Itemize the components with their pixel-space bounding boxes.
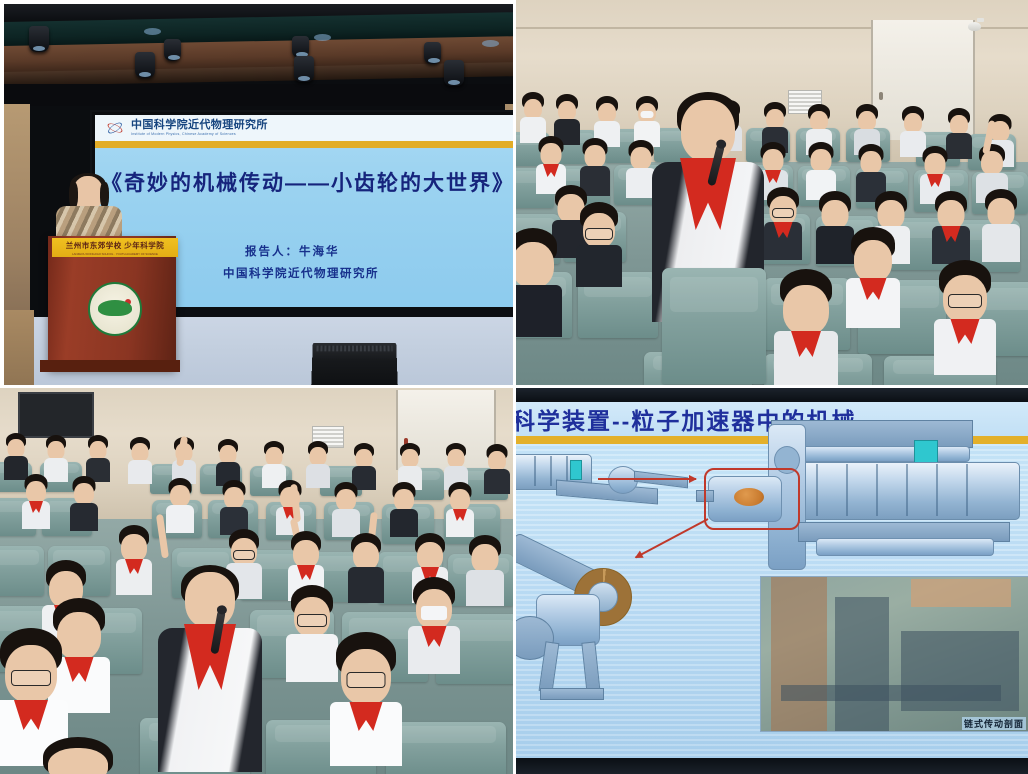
student-person [4, 436, 28, 478]
student-person [348, 538, 384, 600]
panel-speaker-podium: 中国科学院近代物理研究所 Institute of Modern Physics… [4, 4, 513, 385]
panel-boy-with-microphone [0, 388, 513, 774]
slide-main-title: 《奇妙的机械传动——小齿轮的大世界》 [101, 167, 513, 197]
cad-projection-screen: 科学装置--粒子加速器中的机械 [516, 402, 1028, 758]
stage-spotlight-icon [292, 36, 309, 58]
student-person [764, 192, 802, 256]
auditorium-scene [0, 388, 513, 774]
auditorium-seat [0, 546, 44, 596]
screen-bezel-top [516, 388, 1028, 402]
inset-caption: 链式传动剖面 [962, 717, 1026, 730]
slide-presenter: 报告人：牛海华 [245, 243, 340, 259]
student-speaking-person [158, 568, 262, 768]
podium-banner-main: 兰州市东郊学校 少年科学院 [66, 240, 165, 251]
slide-logo-row: 中国科学院近代物理研究所 Institute of Modern Physics… [95, 115, 513, 141]
cad-rib [816, 464, 818, 516]
student-person [44, 438, 68, 480]
truss-lens-icon [144, 28, 161, 35]
cad-rib [876, 464, 878, 516]
student-person [86, 438, 110, 480]
podium-base [40, 360, 180, 372]
student-person [116, 530, 152, 592]
cad-main-cylinder [788, 462, 1020, 520]
stage-monitor-speaker [311, 343, 398, 385]
panel-cad-slide: 科学装置--粒子加速器中的机械 [516, 388, 1028, 774]
student-person [846, 234, 900, 326]
student-person [22, 478, 50, 526]
presenter-hair-right [100, 182, 109, 208]
student-person [216, 442, 240, 484]
student-person [520, 96, 546, 142]
student-person [262, 444, 286, 486]
student-person [220, 484, 248, 532]
stage-spotlight-icon [135, 52, 155, 78]
student-person [128, 440, 152, 482]
cad-rib [936, 464, 938, 516]
student-person [332, 486, 360, 534]
inset-control-panel [911, 579, 1011, 607]
ceiling-shadow-band [4, 84, 513, 106]
photo-collage: 中国科学院近代物理研究所 Institute of Modern Physics… [0, 0, 1028, 774]
stage-spotlight-icon [444, 60, 464, 86]
stage-spotlight-icon [424, 42, 441, 64]
student-person [934, 268, 996, 372]
student-person [352, 446, 376, 488]
student-person [536, 140, 566, 192]
student-person [306, 444, 330, 486]
callout-arrow-right [598, 478, 696, 480]
inset-rail [781, 685, 1001, 701]
inset-machine-body [835, 597, 889, 731]
cad-teal-part [570, 460, 582, 480]
truss-lens-icon [314, 34, 331, 41]
student-person [166, 482, 194, 530]
student-person [484, 448, 510, 492]
truss-lens-icon [482, 40, 499, 47]
student-person [36, 740, 120, 774]
student-person [516, 236, 562, 334]
slide-affiliation: 中国科学院近代物理研究所 [223, 265, 379, 281]
machine-photo-inset: 链式传动剖面 [760, 576, 1028, 732]
auditorium-seat [662, 268, 766, 384]
school-emblem-icon [88, 282, 142, 336]
student-person [446, 486, 474, 534]
cad-rib [846, 464, 848, 516]
stage-spotlight-icon [164, 39, 181, 61]
atom-logo-icon [105, 118, 125, 138]
student-person [982, 194, 1020, 258]
student-person [580, 142, 610, 194]
cad-rail [778, 446, 970, 462]
slide-gold-rule [95, 141, 513, 148]
stage-floor-wood-edge [4, 310, 34, 385]
stage-spotlight-icon [294, 56, 314, 82]
cad-teal-part [914, 440, 938, 464]
cad-rib [906, 464, 908, 516]
inset-column [771, 577, 827, 731]
cad-rib [550, 456, 552, 486]
auditorium-scene [516, 0, 1028, 385]
cad-lower-beam [816, 538, 994, 556]
student-person [330, 642, 402, 764]
auditorium-seat [386, 722, 506, 774]
wall-monitor [18, 392, 94, 438]
cad-foot [540, 688, 604, 700]
student-person [70, 480, 98, 528]
student-person [774, 278, 838, 385]
cad-rib [966, 464, 968, 516]
podium-banner: 兰州市东郊学校 少年科学院 LANZHOU DONGJIAO SCHOOL · … [52, 238, 178, 257]
cctv-camera-icon [968, 18, 984, 31]
podium-banner-sub: LANZHOU DONGJIAO SCHOOL · YOUTH ACADEMY … [72, 252, 158, 256]
student-person [576, 208, 622, 284]
org-name-cn: 中国科学院近代物理研究所 [131, 120, 268, 131]
student-person [932, 196, 970, 260]
door-knob-icon [879, 92, 883, 100]
student-person [466, 540, 504, 604]
callout-box [704, 468, 800, 530]
student-person [390, 486, 418, 534]
presenter-hair-left [69, 182, 78, 208]
panel-girl-with-microphone [516, 0, 1028, 385]
org-name-en: Institute of Modern Physics, Chinese Aca… [131, 133, 268, 137]
stage-spotlight-icon [29, 26, 49, 52]
student-person [408, 584, 460, 670]
screen-bezel-bottom [516, 758, 1028, 774]
cad-rib [534, 456, 536, 486]
